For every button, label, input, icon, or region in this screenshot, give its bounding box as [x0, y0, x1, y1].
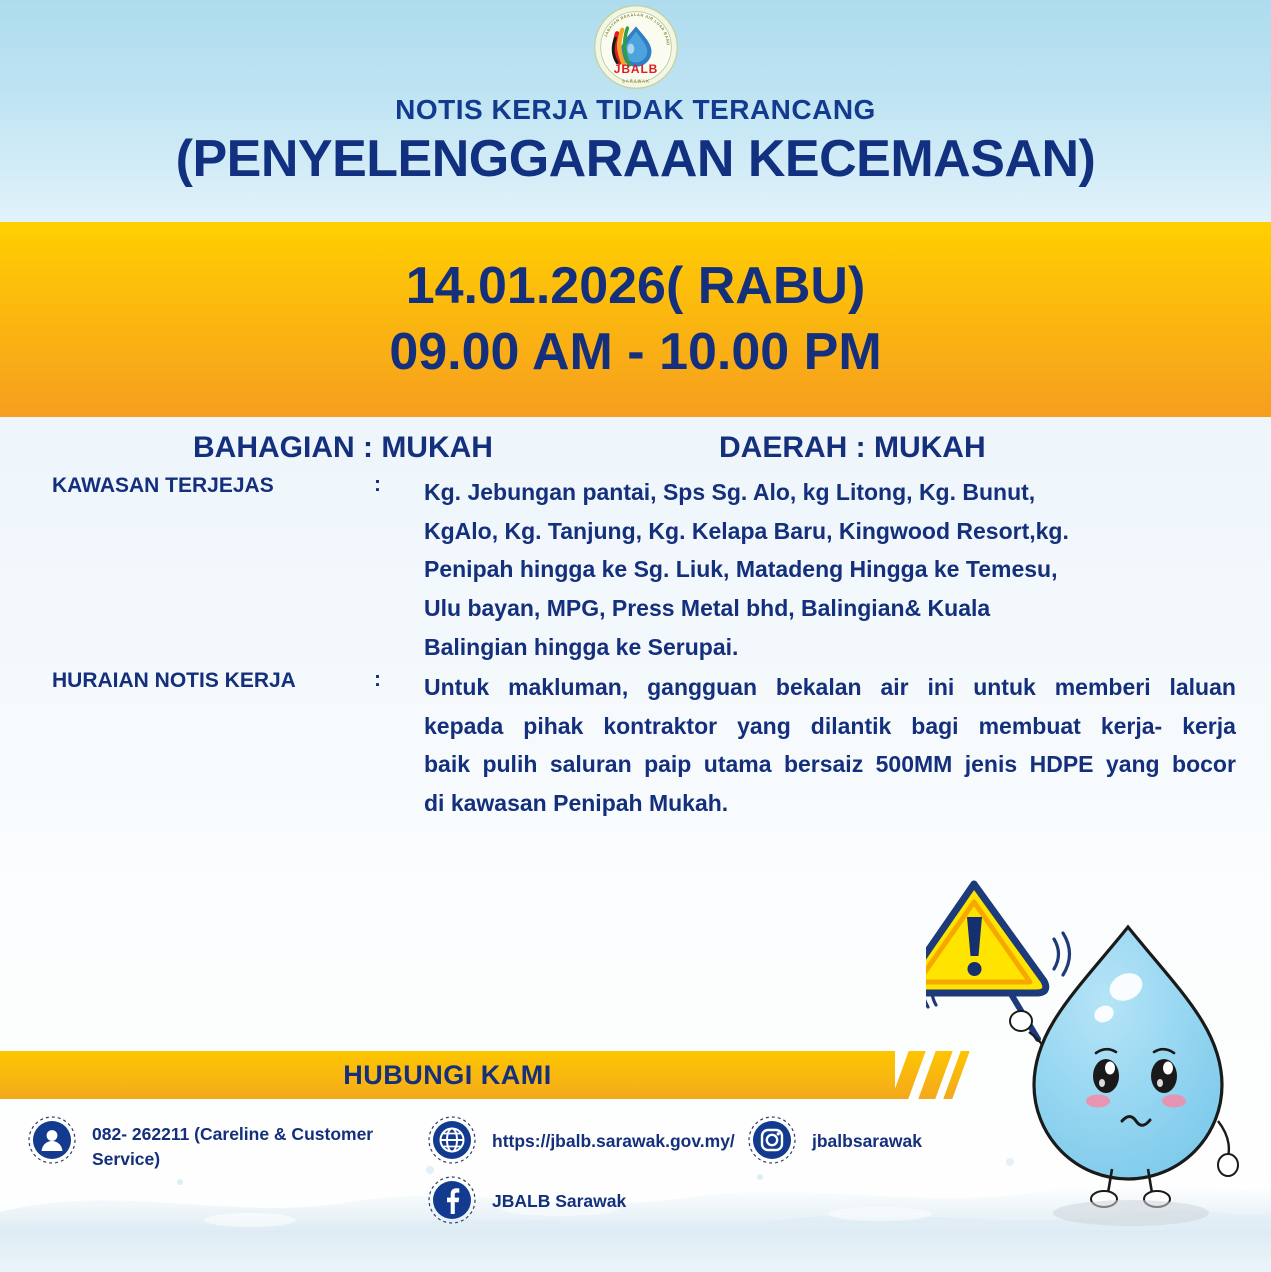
contact-bar-title: HUBUNGI KAMI — [343, 1060, 552, 1091]
work-description-label: HURAIAN NOTIS KERJA — [52, 668, 374, 693]
work-description-line: kepadapihakkontraktoryangdilantikbagimem… — [424, 707, 1236, 746]
svg-text:SARAWAK: SARAWAK — [622, 78, 650, 83]
contact-item-website[interactable]: https://jbalb.sarawak.gov.my/ — [428, 1116, 758, 1164]
affected-areas-line: Kg. Jebungan pantai, Sps Sg. Alo, kg Lit… — [424, 473, 1251, 512]
poster-header: JBALB SARAWAK JABATAN BEKALAN AIR LUAR B… — [0, 0, 1271, 222]
work-description-colon: : — [374, 668, 424, 692]
jbalb-logo: JBALB SARAWAK JABATAN BEKALAN AIR LUAR B… — [593, 4, 679, 90]
affected-areas-line: Ulu bayan, MPG, Press Metal bhd, Balingi… — [424, 589, 1251, 628]
work-description-line: di kawasan Penipah Mukah. — [424, 784, 1236, 823]
contacts-section: 082- 262211 (Careline & Customer Service… — [0, 1108, 1271, 1268]
jbalb-logo-icon: JBALB SARAWAK JABATAN BEKALAN AIR LUAR B… — [593, 4, 679, 90]
daerah-label: DAERAH : MUKAH — [719, 431, 986, 465]
contact-bar: HUBUNGI KAMI — [0, 1051, 895, 1099]
bahagian-label: BAHAGIAN : MUKAH — [193, 431, 493, 465]
water-disruption-notice-poster: JBALB SARAWAK JABATAN BEKALAN AIR LUAR B… — [0, 0, 1271, 1272]
date-time-band: 14.01.2026( RABU) 09.00 AM - 10.00 PM — [0, 222, 1271, 417]
globe-icon — [428, 1116, 476, 1164]
svg-text:JBALB: JBALB — [613, 62, 657, 76]
notice-title: (PENYELENGGARAAN KECEMASAN) — [0, 132, 1271, 187]
contact-item-facebook[interactable]: JBALB Sarawak — [428, 1176, 758, 1224]
contact-text-facebook: JBALB Sarawak — [492, 1176, 626, 1214]
work-description-value: Untukmakluman,gangguanbekalanairiniuntuk… — [424, 668, 1251, 823]
person-icon — [28, 1116, 76, 1164]
affected-areas-line: Penipah hingga ke Sg. Liuk, Matadeng Hin… — [424, 550, 1251, 589]
notice-date: 14.01.2026( RABU) — [406, 255, 866, 318]
facebook-icon — [428, 1176, 476, 1224]
region-row: BAHAGIAN : MUKAH DAERAH : MUKAH — [0, 417, 1271, 471]
affected-areas-row: KAWASAN TERJEJAS : Kg. Jebungan pantai, … — [0, 473, 1271, 666]
contact-bar-wrap: HUBUNGI KAMI — [0, 1051, 1271, 1099]
affected-areas-value: Kg. Jebungan pantai, Sps Sg. Alo, kg Lit… — [424, 473, 1251, 666]
notice-time: 09.00 AM - 10.00 PM — [389, 321, 881, 384]
contact-item-instagram[interactable]: jbalbsarawak — [748, 1116, 1028, 1164]
work-description-line: Untukmakluman,gangguanbekalanairiniuntuk… — [424, 668, 1236, 707]
affected-areas-label: KAWASAN TERJEJAS — [52, 473, 374, 498]
contact-text-phone: 082- 262211 (Careline & Customer Service… — [92, 1116, 428, 1172]
affected-areas-line: Balingian hingga ke Serupai. — [424, 628, 1251, 667]
affected-areas-colon: : — [374, 473, 424, 497]
notice-kicker: NOTIS KERJA TIDAK TERANCANG — [0, 94, 1271, 126]
affected-areas-line: KgAlo, Kg. Tanjung, Kg. Kelapa Baru, Kin… — [424, 512, 1251, 551]
contact-item-phone[interactable]: 082- 262211 (Careline & Customer Service… — [28, 1116, 428, 1172]
work-description-row: HURAIAN NOTIS KERJA : Untukmakluman,gang… — [0, 668, 1271, 823]
work-description-line: baikpulihsaluranpaiputamabersaiz500MMjen… — [424, 745, 1236, 784]
contact-text-instagram: jbalbsarawak — [812, 1116, 922, 1154]
contact-text-website: https://jbalb.sarawak.gov.my/ — [492, 1116, 735, 1154]
instagram-icon — [748, 1116, 796, 1164]
